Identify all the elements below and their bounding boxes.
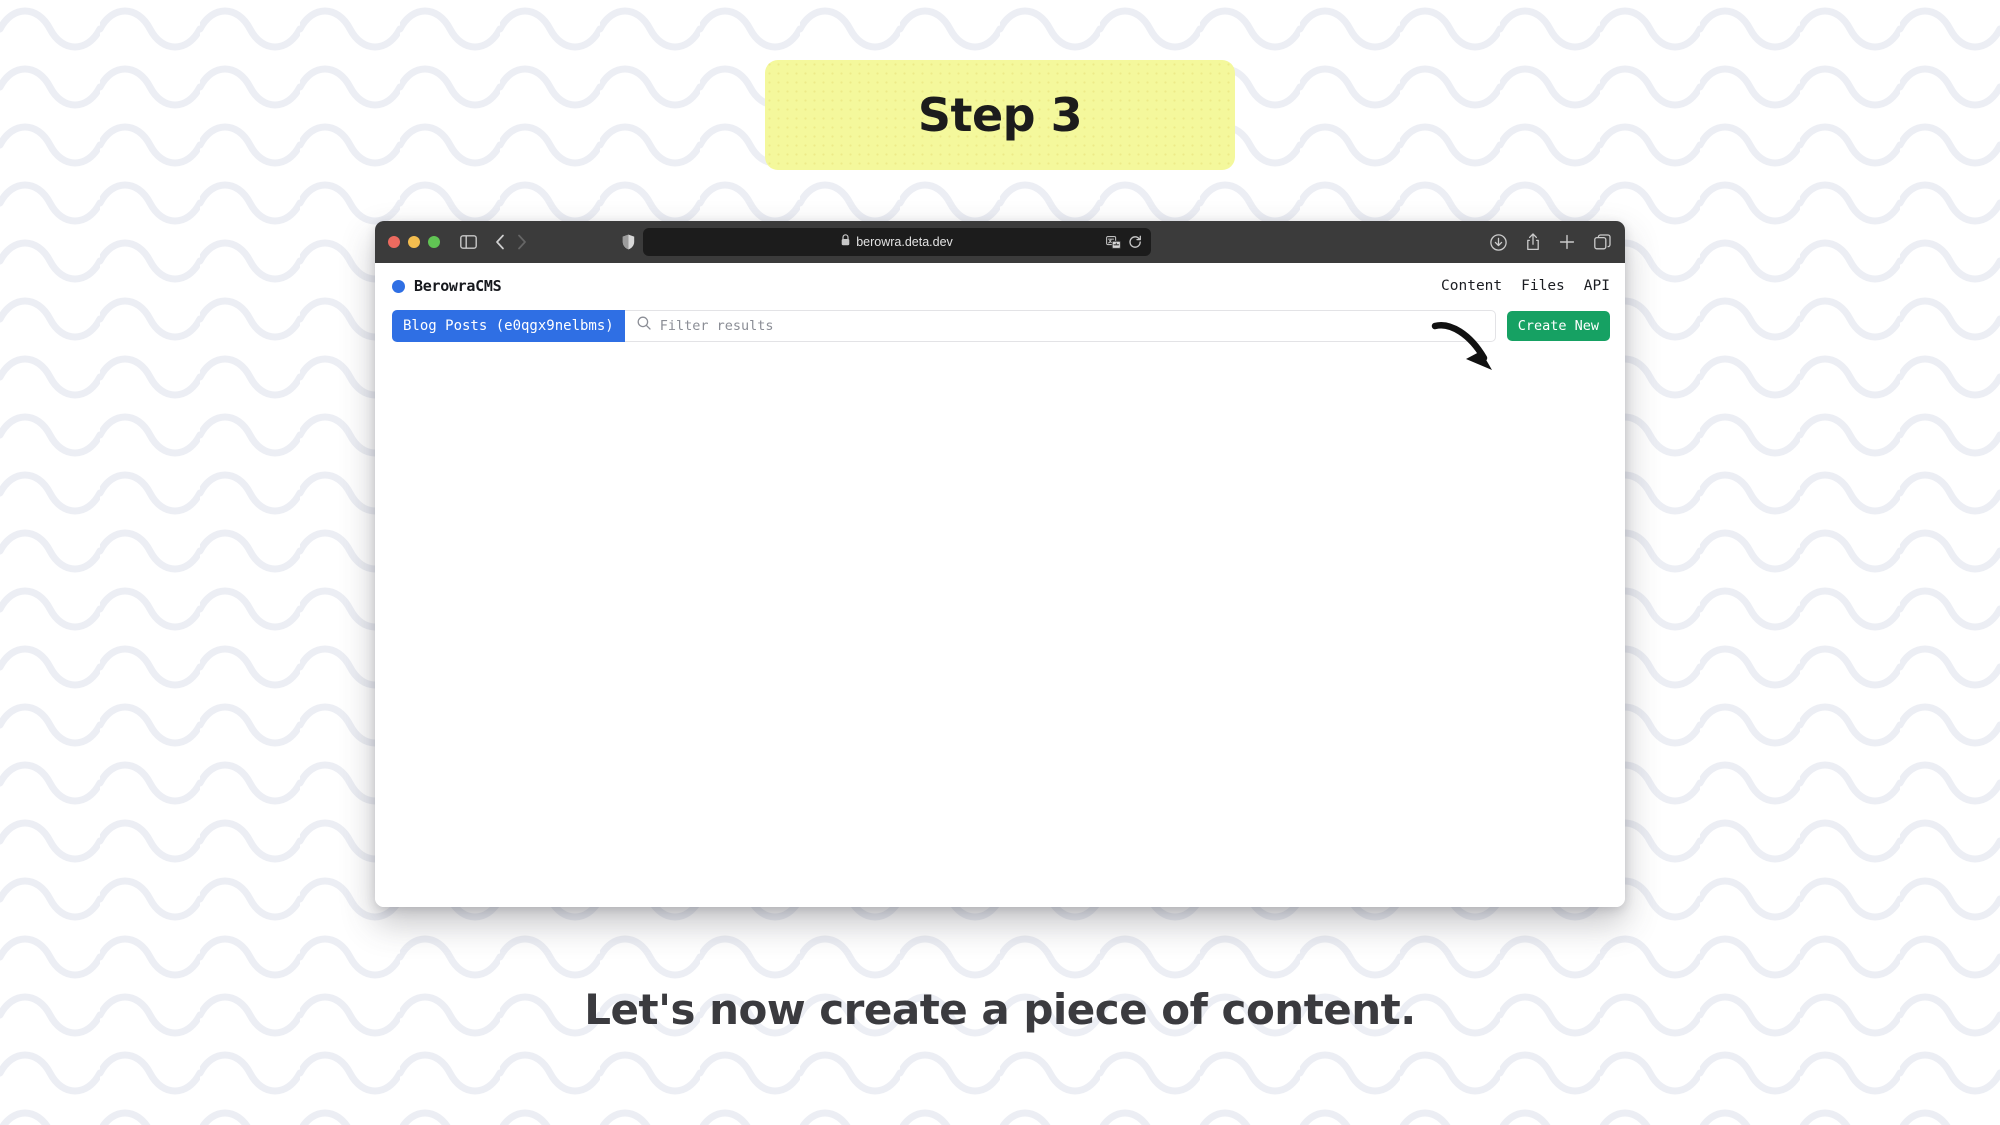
sidebar-toggle-icon[interactable] xyxy=(460,235,477,249)
forward-arrow-icon[interactable] xyxy=(517,234,527,250)
browser-toolbar: berowra.deta.dev xyxy=(375,221,1625,263)
shield-icon[interactable] xyxy=(622,234,635,250)
download-icon[interactable] xyxy=(1490,234,1507,251)
toolbar-right-actions xyxy=(1490,233,1611,251)
filter-field[interactable] xyxy=(625,310,1496,342)
app-header: BerowraCMS Content Files API xyxy=(375,263,1625,309)
step-badge: Step 3 xyxy=(765,60,1235,170)
close-window-button[interactable] xyxy=(388,236,400,248)
tab-overview-icon[interactable] xyxy=(1594,234,1611,250)
new-tab-icon[interactable] xyxy=(1559,234,1575,250)
brand-logo-dot-icon xyxy=(392,280,405,293)
minimize-window-button[interactable] xyxy=(408,236,420,248)
reload-icon[interactable] xyxy=(1129,235,1142,249)
address-bar-content: berowra.deta.dev xyxy=(841,233,953,251)
share-icon[interactable] xyxy=(1526,233,1540,251)
cms-app-area: BerowraCMS Content Files API Blog Posts … xyxy=(375,263,1625,907)
nav-link-files[interactable]: Files xyxy=(1521,278,1565,294)
nav-link-api[interactable]: API xyxy=(1584,278,1610,294)
step-badge-label: Step 3 xyxy=(918,88,1082,142)
caption-text: Let's now create a piece of content. xyxy=(0,985,2000,1034)
window-traffic-lights xyxy=(388,236,440,248)
translate-icon[interactable] xyxy=(1106,236,1121,249)
filter-input[interactable] xyxy=(660,318,1483,334)
zoom-window-button[interactable] xyxy=(428,236,440,248)
address-text: berowra.deta.dev xyxy=(856,235,953,249)
brand[interactable]: BerowraCMS xyxy=(392,277,501,295)
collection-tag-blog-posts[interactable]: Blog Posts (e0qgx9nelbms) xyxy=(392,310,625,342)
brand-name: BerowraCMS xyxy=(414,277,501,295)
address-bar[interactable]: berowra.deta.dev xyxy=(643,228,1151,256)
filter-row: Blog Posts (e0qgx9nelbms) Create New xyxy=(375,309,1625,342)
browser-window: berowra.deta.dev xyxy=(375,221,1625,907)
create-new-button[interactable]: Create New xyxy=(1507,311,1610,341)
lock-icon xyxy=(841,233,850,251)
search-icon xyxy=(637,316,651,335)
back-arrow-icon[interactable] xyxy=(495,234,505,250)
address-bar-actions xyxy=(1106,235,1142,249)
nav-link-content[interactable]: Content xyxy=(1441,278,1502,294)
app-nav: Content Files API xyxy=(1441,278,1610,294)
